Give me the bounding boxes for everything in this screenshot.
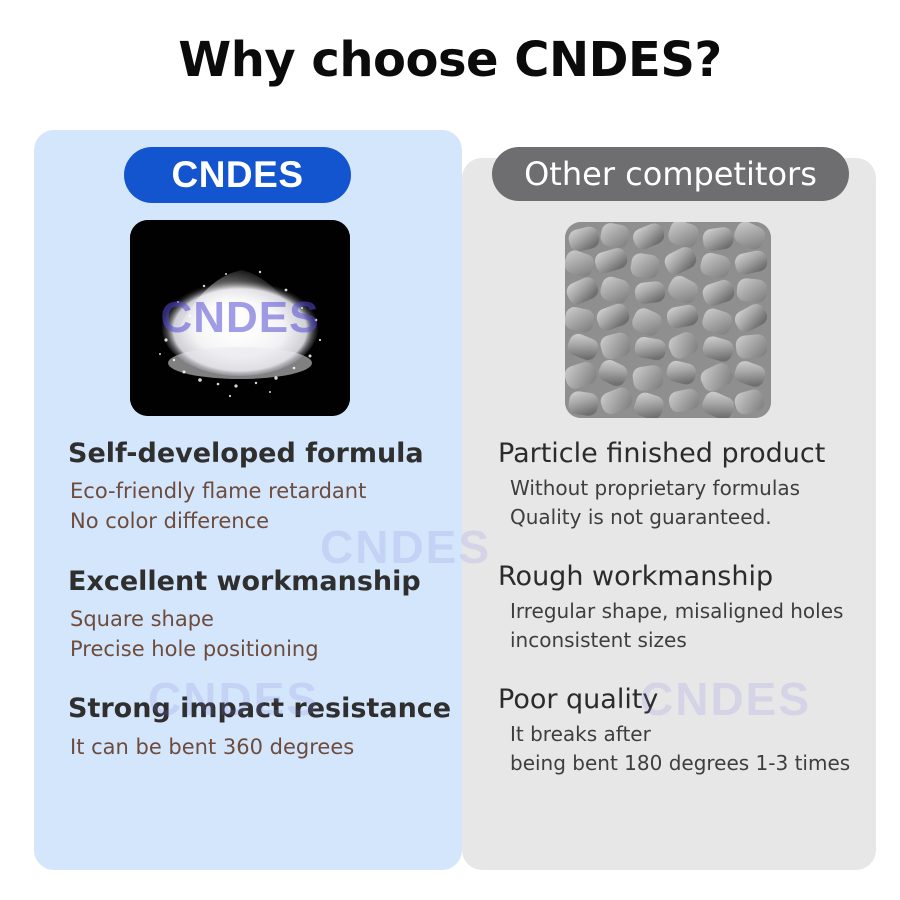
feature-line: It breaks after (510, 721, 878, 748)
feature-heading: Poor quality (498, 684, 878, 715)
cndes-brand-badge[interactable]: CNDES (124, 147, 351, 203)
page-title: Why choose CNDES? (0, 32, 900, 88)
feature-heading: Strong impact resistance (68, 693, 458, 724)
feature-heading: Rough workmanship (498, 561, 878, 592)
powder-illustration (130, 220, 350, 416)
pellets-illustration (565, 222, 771, 418)
feature-heading: Self-developed formula (68, 438, 458, 469)
feature-block: Poor quality It breaks after being bent … (498, 684, 878, 777)
feature-line: Square shape (70, 605, 458, 633)
gray-plastic-pellets-photo (565, 222, 771, 418)
comparison-infographic: Why choose CNDES? CNDES Other competitor… (0, 0, 900, 900)
feature-line: Irregular shape, misaligned holes (510, 598, 878, 625)
feature-heading: Particle finished product (498, 438, 878, 469)
feature-block: Self-developed formula Eco-friendly flam… (68, 438, 458, 536)
feature-line: Eco-friendly flame retardant (70, 477, 458, 505)
feature-line: Without proprietary formulas (510, 475, 878, 502)
competitor-badge[interactable]: Other competitors (492, 147, 849, 201)
feature-line: being bent 180 degrees 1-3 times (510, 750, 878, 777)
competitor-feature-list: Particle finished product Without propri… (498, 438, 878, 779)
feature-line: It can be bent 360 degrees (70, 733, 458, 761)
white-powder-photo: CNDES (130, 220, 350, 416)
feature-line: Precise hole positioning (70, 635, 458, 663)
feature-block: Rough workmanship Irregular shape, misal… (498, 561, 878, 654)
feature-block: Particle finished product Without propri… (498, 438, 878, 531)
feature-line: Quality is not guaranteed. (510, 504, 878, 531)
competitor-badge-label: Other competitors (524, 155, 817, 193)
feature-line: No color difference (70, 507, 458, 535)
cndes-feature-list: Self-developed formula Eco-friendly flam… (68, 438, 458, 763)
feature-block: Excellent workmanship Square shape Preci… (68, 566, 458, 664)
feature-heading: Excellent workmanship (68, 566, 458, 597)
cndes-brand-badge-label: CNDES (171, 154, 303, 196)
feature-line: inconsistent sizes (510, 627, 878, 654)
feature-block: Strong impact resistance It can be bent … (68, 693, 458, 760)
